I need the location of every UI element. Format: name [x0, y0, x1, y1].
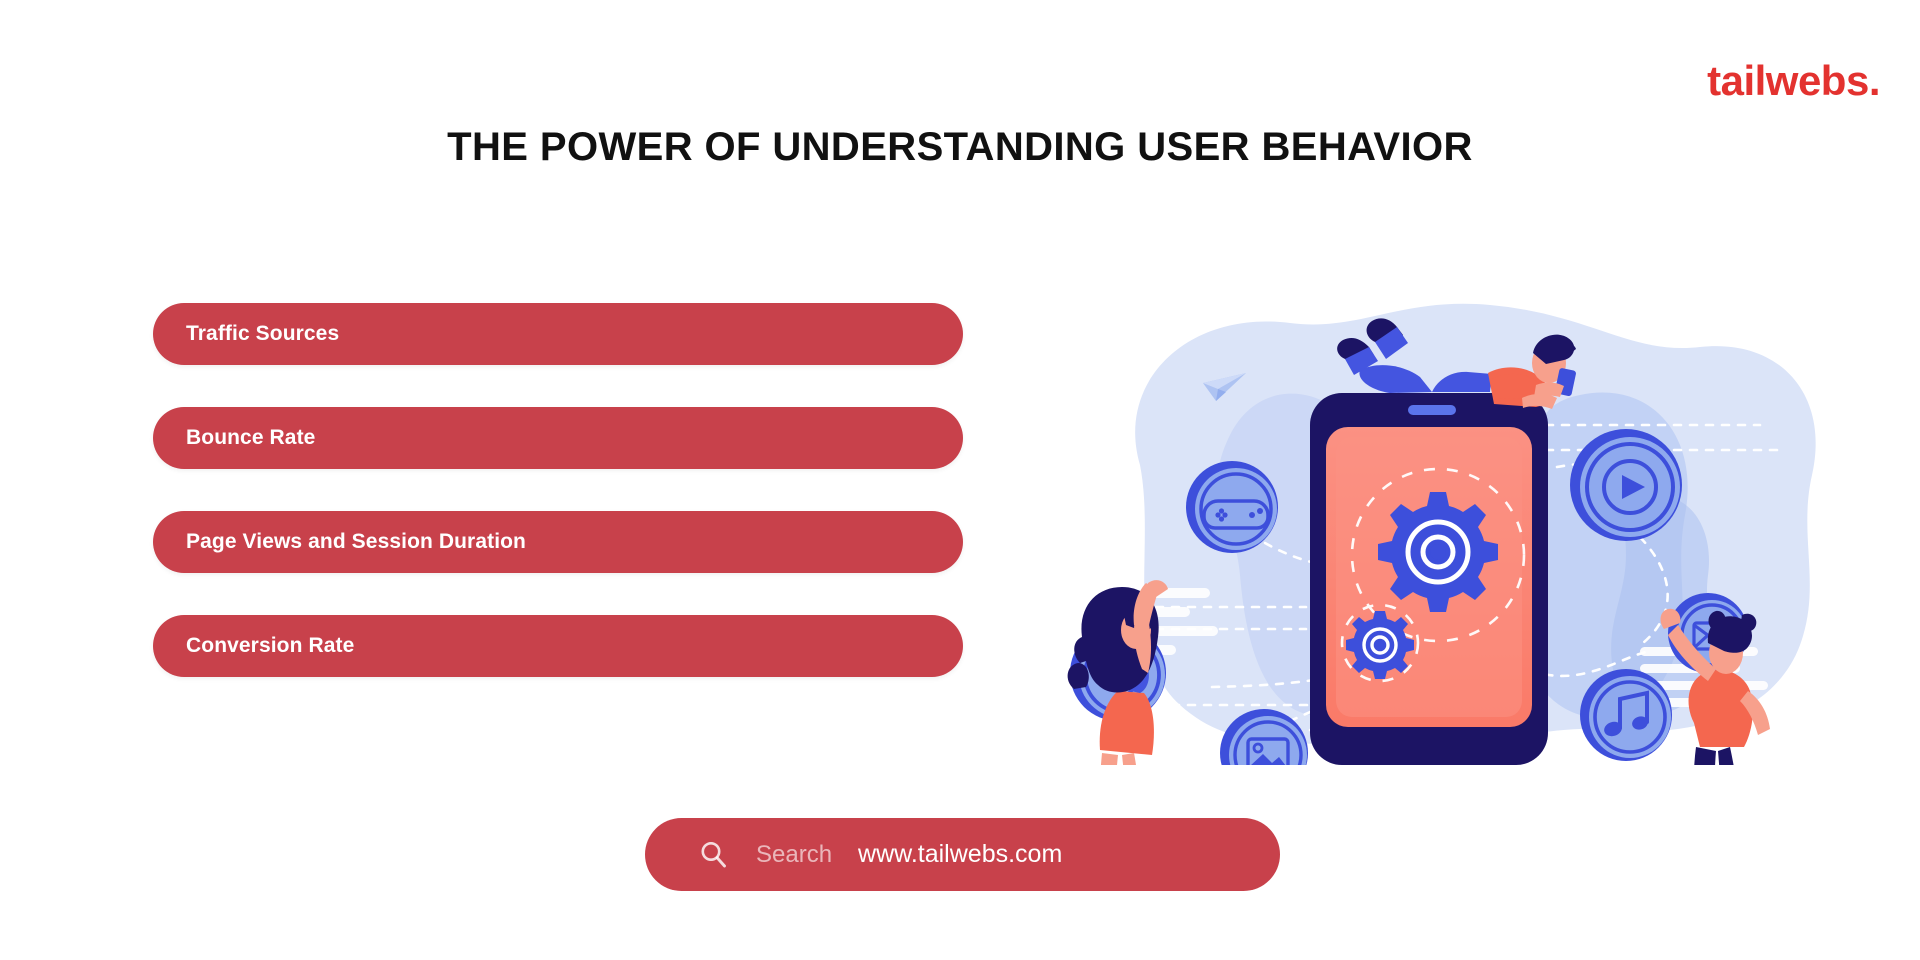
metric-bar-page-views-session-duration[interactable]: Page Views and Session Duration — [153, 511, 963, 573]
metric-bar-label: Conversion Rate — [153, 634, 354, 658]
slide-canvas: tailwebs. THE POWER OF UNDERSTANDING USE… — [0, 0, 1920, 960]
gear-icon-small — [1346, 611, 1414, 679]
metric-bar-traffic-sources[interactable]: Traffic Sources — [153, 303, 963, 365]
search-icon — [698, 839, 730, 871]
page-title: THE POWER OF UNDERSTANDING USER BEHAVIOR — [0, 125, 1920, 170]
search-bar[interactable]: Search www.tailwebs.com — [645, 818, 1280, 891]
mobile-user-engagement-illustration — [1060, 285, 1850, 765]
metric-bar-label: Page Views and Session Duration — [153, 530, 526, 554]
gear-icon-large — [1378, 492, 1498, 612]
metric-bar-label: Traffic Sources — [153, 322, 339, 346]
metrics-list: Traffic Sources Bounce Rate Page Views a… — [153, 303, 963, 719]
play-icon[interactable] — [1570, 429, 1682, 541]
gamepad-icon[interactable] — [1186, 461, 1278, 553]
metric-bar-bounce-rate[interactable]: Bounce Rate — [153, 407, 963, 469]
music-note-icon[interactable] — [1580, 669, 1672, 761]
smartphone-graphic — [1310, 393, 1548, 765]
metric-bar-label: Bounce Rate — [153, 426, 315, 450]
metric-bar-conversion-rate[interactable]: Conversion Rate — [153, 615, 963, 677]
search-input-value[interactable]: www.tailwebs.com — [858, 840, 1062, 869]
tailwebs-logo[interactable]: tailwebs. — [1707, 60, 1880, 102]
search-placeholder-text: Search — [756, 841, 832, 869]
